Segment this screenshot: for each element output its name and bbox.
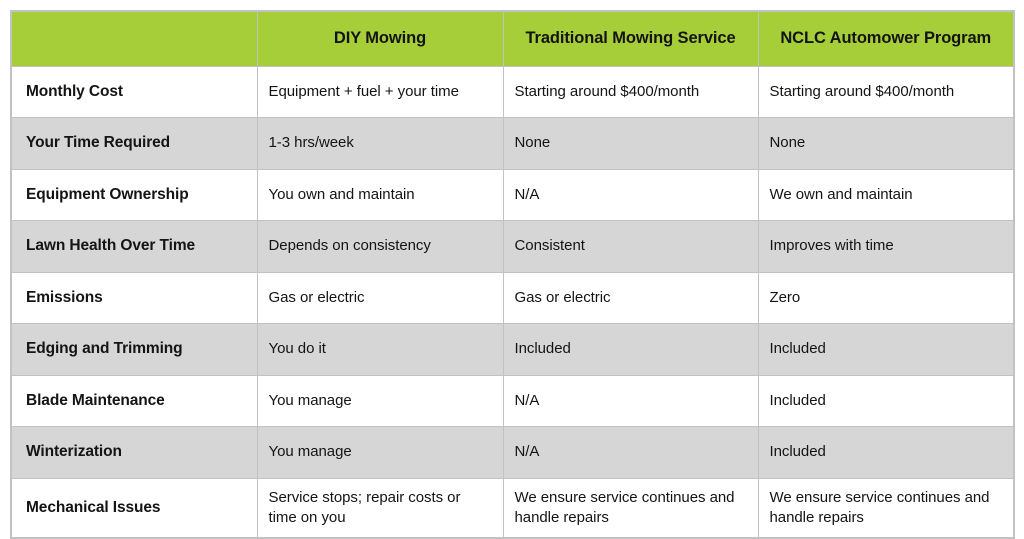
cell-blade-maintenance-traditional: N/A <box>503 375 758 427</box>
header-cell-nclc-automower-program: NCLC Automower Program <box>758 11 1014 66</box>
cell-lawn-health-over-time-diy: Depends on consistency <box>257 221 503 273</box>
header-cell-traditional-mowing-service: Traditional Mowing Service <box>503 11 758 66</box>
table-row: Your Time Required 1-3 hrs/week None Non… <box>11 118 1014 170</box>
cell-monthly-cost-nclc: Starting around $400/month <box>758 66 1014 118</box>
cell-mechanical-issues-traditional: We ensure service continues and handle r… <box>503 478 758 538</box>
cell-lawn-health-over-time-nclc: Improves with time <box>758 221 1014 273</box>
cell-winterization-nclc: Included <box>758 427 1014 479</box>
row-label-blade-maintenance: Blade Maintenance <box>11 375 257 427</box>
cell-emissions-nclc: Zero <box>758 272 1014 324</box>
row-label-your-time-required: Your Time Required <box>11 118 257 170</box>
row-label-emissions: Emissions <box>11 272 257 324</box>
cell-edging-and-trimming-nclc: Included <box>758 324 1014 376</box>
cell-blade-maintenance-nclc: Included <box>758 375 1014 427</box>
service-comparison-table: DIY Mowing Traditional Mowing Service NC… <box>10 10 1015 539</box>
header-row: DIY Mowing Traditional Mowing Service NC… <box>11 11 1014 66</box>
row-label-lawn-health-over-time: Lawn Health Over Time <box>11 221 257 273</box>
cell-edging-and-trimming-diy: You do it <box>257 324 503 376</box>
cell-your-time-required-diy: 1-3 hrs/week <box>257 118 503 170</box>
cell-equipment-ownership-diy: You own and maintain <box>257 169 503 221</box>
row-label-edging-and-trimming: Edging and Trimming <box>11 324 257 376</box>
table-body: Monthly Cost Equipment + fuel + your tim… <box>11 66 1014 538</box>
cell-mechanical-issues-nclc: We ensure service continues and handle r… <box>758 478 1014 538</box>
cell-winterization-traditional: N/A <box>503 427 758 479</box>
table-row: Emissions Gas or electric Gas or electri… <box>11 272 1014 324</box>
table-header: DIY Mowing Traditional Mowing Service NC… <box>11 11 1014 66</box>
cell-mechanical-issues-diy: Service stops; repair costs or time on y… <box>257 478 503 538</box>
comparison-table-container: DIY Mowing Traditional Mowing Service NC… <box>10 10 1013 533</box>
table-row: Edging and Trimming You do it Included I… <box>11 324 1014 376</box>
cell-equipment-ownership-traditional: N/A <box>503 169 758 221</box>
cell-blade-maintenance-diy: You manage <box>257 375 503 427</box>
cell-winterization-diy: You manage <box>257 427 503 479</box>
cell-equipment-ownership-nclc: We own and maintain <box>758 169 1014 221</box>
cell-edging-and-trimming-traditional: Included <box>503 324 758 376</box>
table-row: Lawn Health Over Time Depends on consist… <box>11 221 1014 273</box>
header-cell-diy-mowing: DIY Mowing <box>257 11 503 66</box>
cell-emissions-traditional: Gas or electric <box>503 272 758 324</box>
row-label-mechanical-issues: Mechanical Issues <box>11 478 257 538</box>
table-row: Blade Maintenance You manage N/A Include… <box>11 375 1014 427</box>
table-row: Winterization You manage N/A Included <box>11 427 1014 479</box>
cell-your-time-required-nclc: None <box>758 118 1014 170</box>
cell-lawn-health-over-time-traditional: Consistent <box>503 221 758 273</box>
cell-emissions-diy: Gas or electric <box>257 272 503 324</box>
cell-monthly-cost-diy: Equipment + fuel + your time <box>257 66 503 118</box>
row-label-equipment-ownership: Equipment Ownership <box>11 169 257 221</box>
table-row: Monthly Cost Equipment + fuel + your tim… <box>11 66 1014 118</box>
header-cell-blank-corner <box>11 11 257 66</box>
table-row: Mechanical Issues Service stops; repair … <box>11 478 1014 538</box>
table-row: Equipment Ownership You own and maintain… <box>11 169 1014 221</box>
cell-your-time-required-traditional: None <box>503 118 758 170</box>
row-label-monthly-cost: Monthly Cost <box>11 66 257 118</box>
cell-monthly-cost-traditional: Starting around $400/month <box>503 66 758 118</box>
row-label-winterization: Winterization <box>11 427 257 479</box>
